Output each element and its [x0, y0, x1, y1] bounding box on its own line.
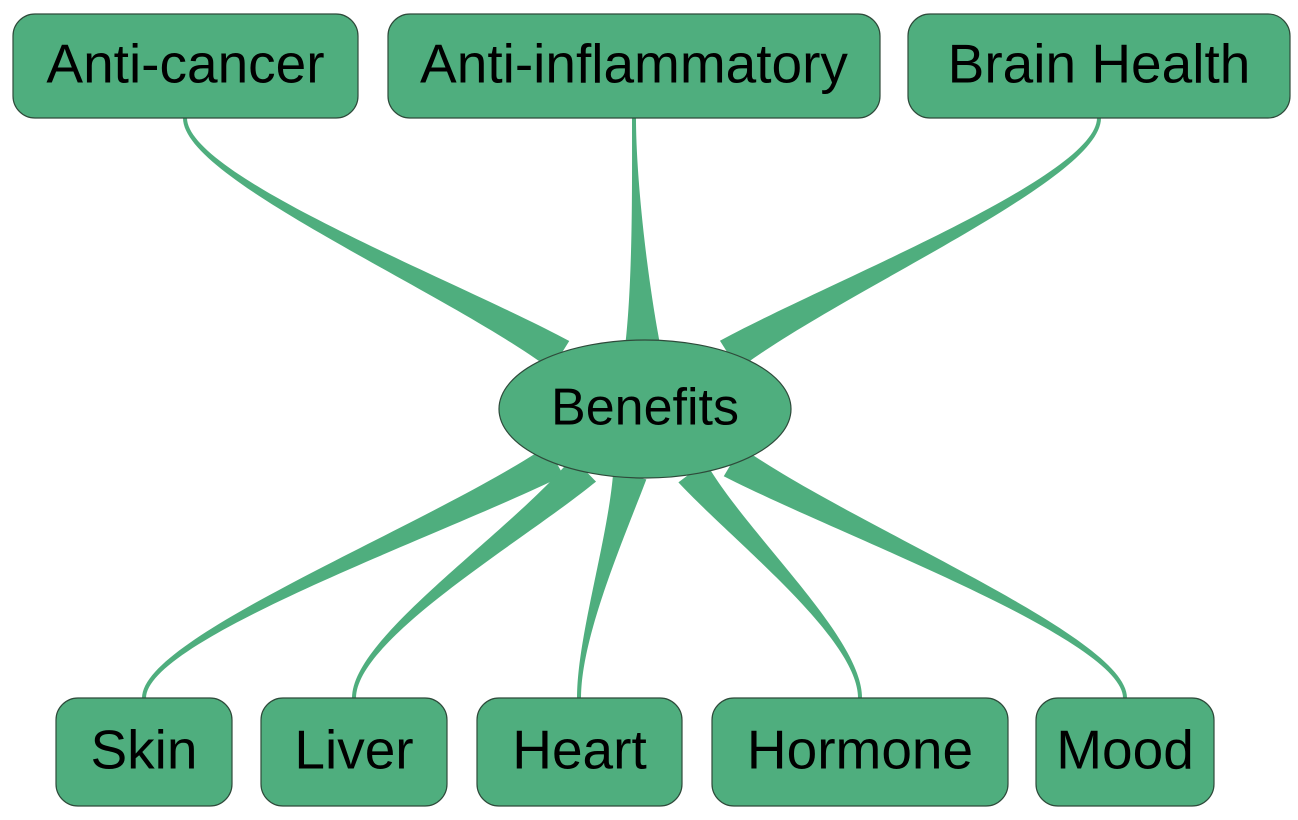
edge-benefits-skin: [142, 446, 564, 698]
node-skin[interactable]: Skin: [56, 698, 232, 806]
node-liver[interactable]: Liver: [261, 698, 447, 806]
edge-benefits-brain-health: [720, 118, 1101, 370]
edge-benefits-anti-cancer: [183, 118, 569, 370]
node-brain-health[interactable]: Brain Health: [908, 14, 1290, 118]
node-benefits[interactable]: Benefits: [499, 340, 791, 478]
node-hormone[interactable]: Hormone: [712, 698, 1008, 806]
node-mood[interactable]: Mood: [1036, 698, 1214, 806]
diagram-canvas: Anti-cancerAnti-inflammatoryBrain Health…: [0, 0, 1298, 820]
node-anti-inflammatory-label: Anti-inflammatory: [420, 33, 848, 95]
node-skin-label: Skin: [91, 719, 198, 781]
node-brain-health-label: Brain Health: [948, 33, 1251, 95]
nodes-layer: Anti-cancerAnti-inflammatoryBrain Health…: [13, 14, 1290, 806]
node-mood-label: Mood: [1056, 719, 1194, 781]
edge-benefits-anti-inflammatory: [625, 118, 659, 343]
node-heart-label: Heart: [512, 719, 647, 781]
node-anti-inflammatory[interactable]: Anti-inflammatory: [388, 14, 880, 118]
mind-map-svg: Anti-cancerAnti-inflammatoryBrain Health…: [0, 0, 1298, 820]
node-anti-cancer-label: Anti-cancer: [46, 33, 324, 95]
node-heart[interactable]: Heart: [477, 698, 682, 806]
node-liver-label: Liver: [294, 719, 413, 781]
node-benefits-label: Benefits: [551, 379, 739, 437]
edge-benefits-heart: [577, 472, 646, 698]
node-anti-cancer[interactable]: Anti-cancer: [13, 14, 358, 118]
node-hormone-label: Hormone: [747, 719, 973, 781]
